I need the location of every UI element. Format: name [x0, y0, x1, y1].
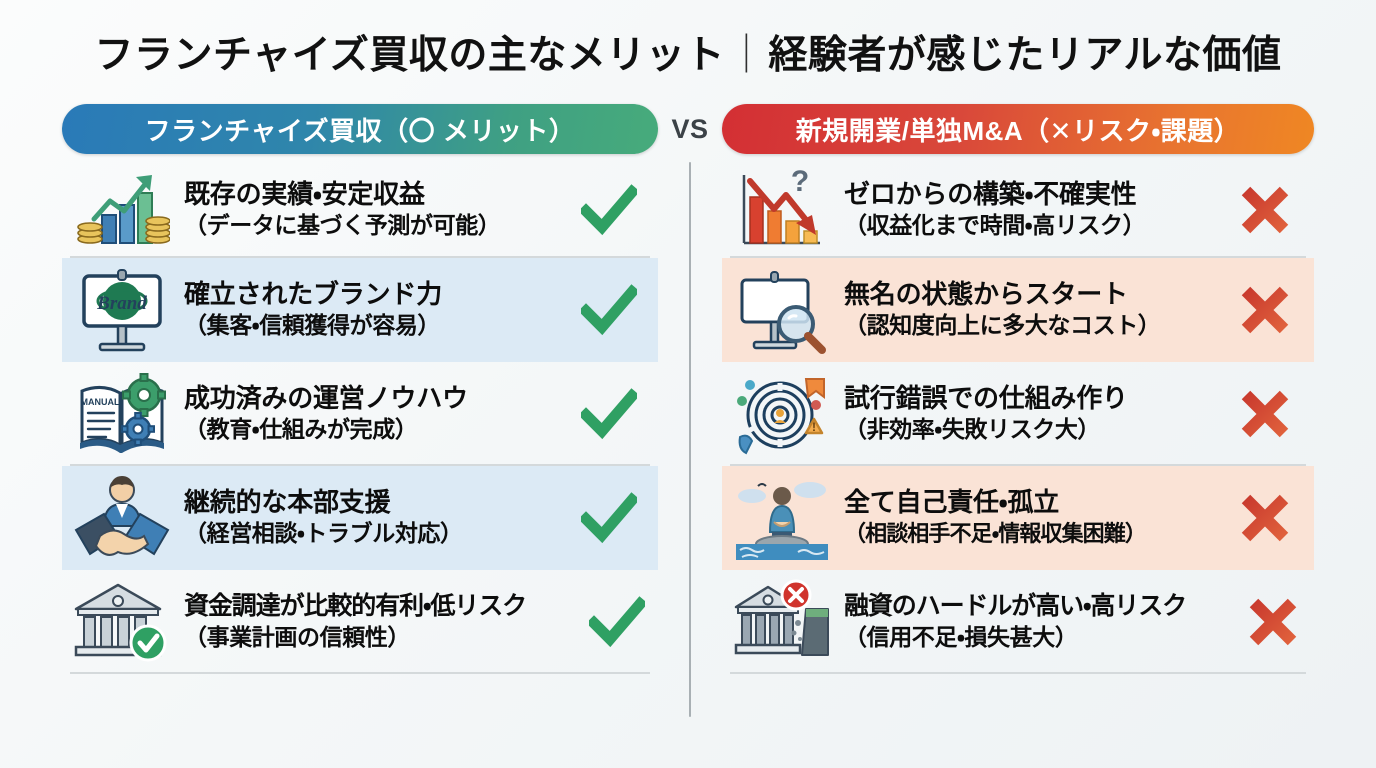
pro-column-header: フランチャイズ買収（〇 メリット）: [62, 104, 658, 154]
page-title-right: 経験者が感じたリアルな価値: [768, 34, 1281, 77]
row-text: ゼロからの構築・不確実性 （収益化まで時間・高リスク）: [838, 179, 1222, 242]
infographic-page: フランチャイズ買収の主なメリット｜経験者が感じたリアルな価値 VS フランチャイ…: [0, 0, 1376, 768]
page-title-separator: ｜: [725, 34, 769, 77]
bank-check-icon: [66, 576, 178, 668]
row-title: 確立されたブランド力: [184, 279, 566, 311]
declining-chart-icon: ?: [726, 164, 838, 256]
isolated-person-island-icon: [726, 472, 838, 564]
cross-icon: [1222, 283, 1308, 337]
row-subtitle: （事業計画の信頼性）: [184, 623, 592, 653]
row-subtitle: （教育・仕組みが完成）: [184, 415, 566, 445]
row-title: 既存の実績・安定収益: [184, 179, 566, 211]
table-row[interactable]: 無名の状態からスタート （認知度向上に多大なコスト）: [722, 258, 1314, 362]
row-text: 試行錯誤での仕組み作り （非効率・失敗リスク大）: [838, 383, 1222, 446]
svg-text:!: !: [812, 420, 816, 434]
con-column: 新規開業/単独M&A（✕リスク・課題）: [722, 104, 1314, 674]
row-text: 継続的な本部支援 （経営相談・トラブル対応）: [178, 487, 566, 550]
con-column-header: 新規開業/単独M&A（✕リスク・課題）: [722, 104, 1314, 154]
cross-icon: [1238, 595, 1308, 649]
check-icon: [582, 596, 652, 648]
bank-cliff-reject-icon: [726, 576, 838, 668]
row-title: ゼロからの構築・不確実性: [844, 179, 1222, 211]
row-subtitle: （信用不足・損失甚大）: [844, 623, 1248, 653]
row-text: 無名の状態からスタート （認知度向上に多大なコスト）: [838, 279, 1222, 342]
row-text: 既存の実績・安定収益 （データに基づく予測が可能）: [178, 179, 566, 242]
row-title: 全て自己責任・孤立: [844, 487, 1222, 519]
check-icon: [566, 184, 652, 236]
table-row[interactable]: 資金調達が比較的有利・低リスク （事業計画の信頼性）: [62, 570, 658, 674]
row-subtitle: （非効率・失敗リスク大）: [844, 415, 1222, 445]
row-text: 確立されたブランド力 （集客・信頼獲得が容易）: [178, 279, 566, 342]
row-subtitle: （収益化まで時間・高リスク）: [844, 211, 1222, 241]
row-title: 継続的な本部支援: [184, 487, 566, 519]
row-subtitle: （認知度向上に多大なコスト）: [844, 311, 1222, 341]
check-icon: [566, 284, 652, 336]
row-title: 融資のハードルが高い・高リスク: [844, 591, 1248, 622]
table-row[interactable]: 継続的な本部支援 （経営相談・トラブル対応）: [62, 466, 658, 570]
row-text: 資金調達が比較的有利・低リスク （事業計画の信頼性）: [178, 591, 592, 652]
svg-text:Brand: Brand: [96, 293, 147, 314]
row-subtitle: （データに基づく予測が可能）: [184, 211, 566, 241]
row-text: 融資のハードルが高い・高リスク （信用不足・損失甚大）: [838, 591, 1248, 652]
brand-sign-icon: Brand: [66, 264, 178, 356]
manual-gears-icon: MANUAL: [66, 368, 178, 460]
row-subtitle: （相談相手不足・情報収集困難）: [844, 520, 1222, 549]
handshake-support-icon: [66, 472, 178, 564]
page-title: フランチャイズ買収の主なメリット｜経験者が感じたリアルな価値: [0, 24, 1376, 80]
cross-icon: [1222, 387, 1308, 441]
check-icon: [566, 388, 652, 440]
maze-warning-icon: !: [726, 368, 838, 460]
table-row[interactable]: ! 試行錯誤での仕組み作り （非効率・失敗リスク大）: [722, 362, 1314, 466]
pro-row-list: 既存の実績・安定収益 （データに基づく予測が可能） Brand: [62, 162, 658, 674]
table-row[interactable]: 融資のハードルが高い・高リスク （信用不足・損失甚大）: [722, 570, 1314, 674]
con-row-list: ? ゼロからの構築・不確実性 （収益化まで時間・高リスク）: [722, 162, 1314, 674]
table-row[interactable]: 全て自己責任・孤立 （相談相手不足・情報収集困難）: [722, 466, 1314, 570]
row-text: 成功済みの運営ノウハウ （教育・仕組みが完成）: [178, 383, 566, 446]
table-row[interactable]: ? ゼロからの構築・不確実性 （収益化まで時間・高リスク）: [722, 162, 1314, 258]
table-row[interactable]: 既存の実績・安定収益 （データに基づく予測が可能）: [62, 162, 658, 258]
svg-text:?: ?: [791, 167, 809, 198]
table-row[interactable]: MANUAL: [62, 362, 658, 466]
page-title-left: フランチャイズ買収の主なメリット: [94, 34, 724, 77]
row-title: 無名の状態からスタート: [844, 279, 1222, 311]
row-title: 試行錯誤での仕組み作り: [844, 383, 1222, 415]
cross-icon: [1222, 491, 1308, 545]
table-row[interactable]: Brand 確立されたブランド力 （集客・信頼獲得が容易）: [62, 258, 658, 362]
check-icon: [566, 492, 652, 544]
pro-column: フランチャイズ買収（〇 メリット）: [62, 104, 658, 674]
svg-text:MANUAL: MANUAL: [81, 397, 120, 407]
growth-chart-icon: [66, 164, 178, 256]
row-subtitle: （集客・信頼獲得が容易）: [184, 311, 566, 341]
comparison-board: フランチャイズ買収（〇 メリット）: [0, 104, 1376, 744]
pro-column-header-label: フランチャイズ買収（〇 メリット）: [145, 111, 576, 148]
blank-sign-magnifier-icon: [726, 264, 838, 356]
row-title: 成功済みの運営ノウハウ: [184, 383, 566, 415]
row-title: 資金調達が比較的有利・低リスク: [184, 591, 592, 622]
row-subtitle: （経営相談・トラブル対応）: [184, 519, 566, 549]
row-text: 全て自己責任・孤立 （相談相手不足・情報収集困難）: [838, 487, 1222, 548]
con-column-header-label: 新規開業/単独M&A（✕リスク・課題）: [796, 111, 1241, 148]
cross-icon: [1222, 183, 1308, 237]
